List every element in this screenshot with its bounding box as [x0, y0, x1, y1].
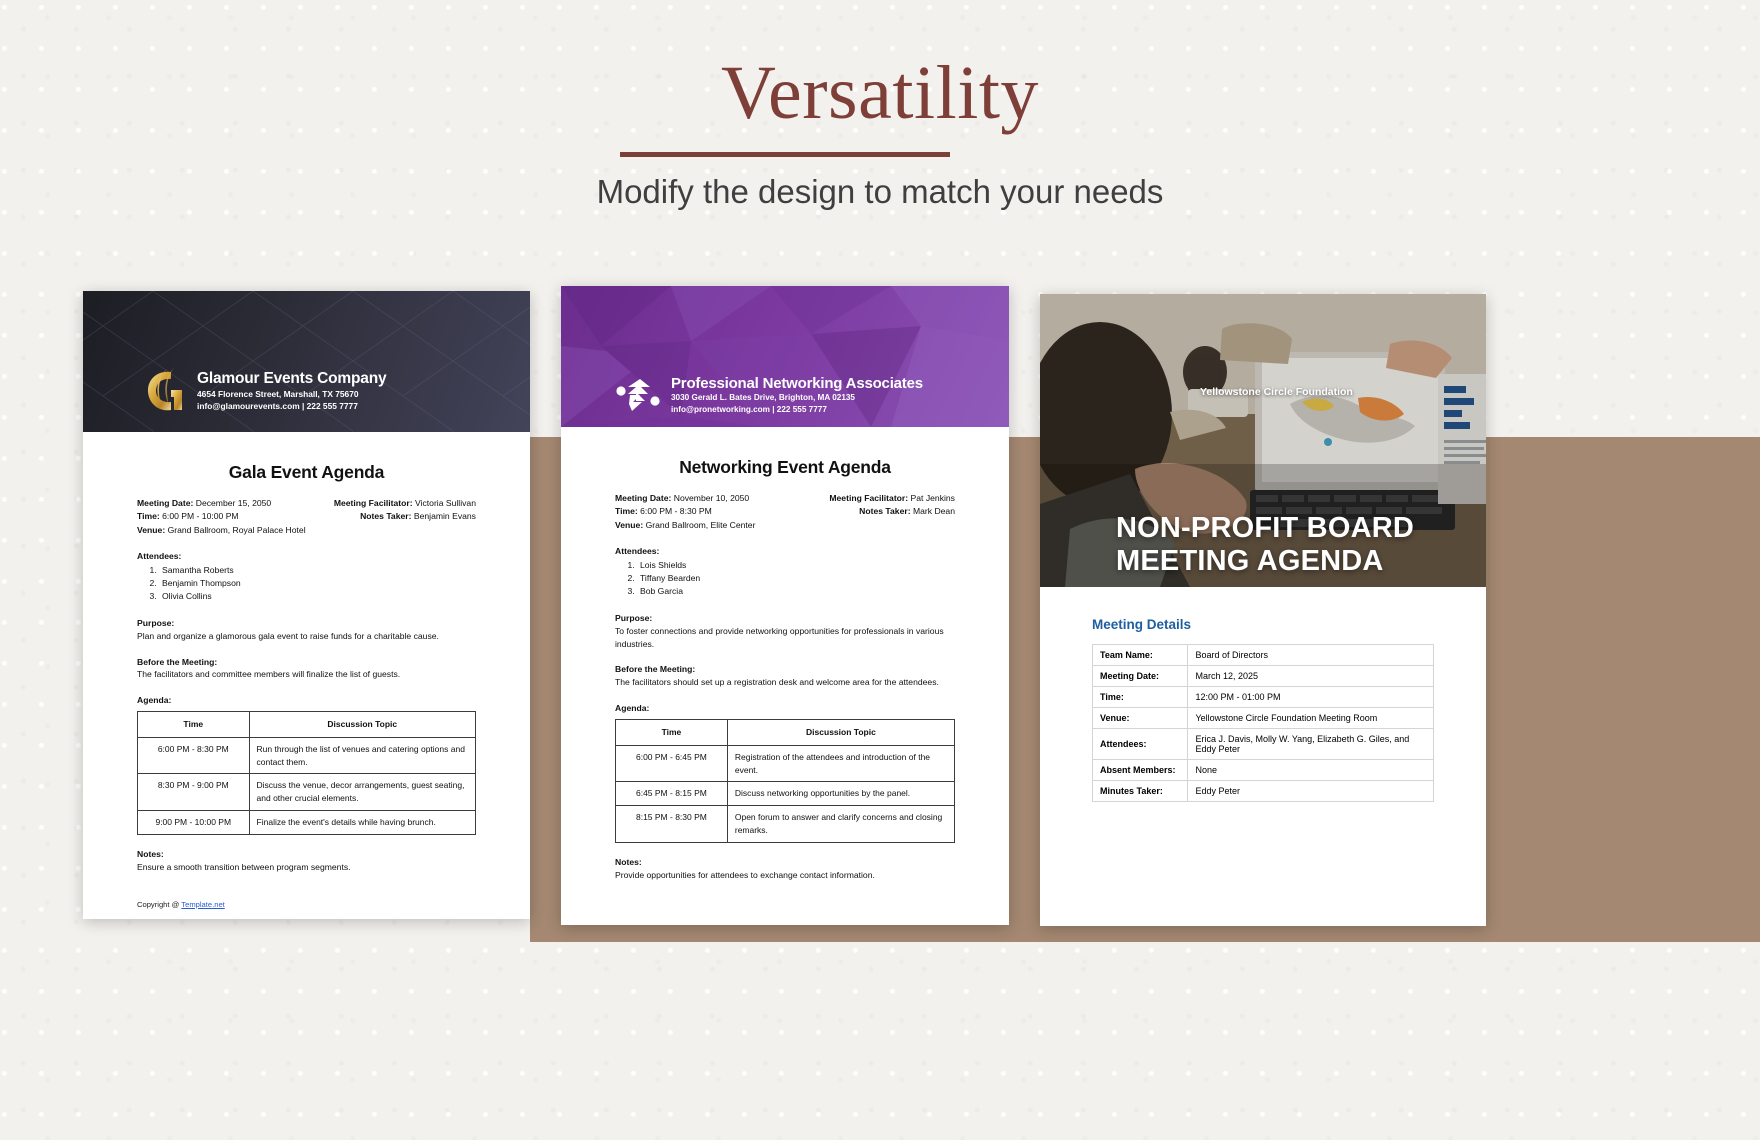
card2-agenda-section: Agenda: Time Discussion Topic 6:00 PM - …	[615, 702, 955, 842]
cell-key: Meeting Date:	[1093, 666, 1188, 687]
card1-facilitator-label: Meeting Facilitator:	[334, 498, 413, 508]
card1-time-label: Time:	[137, 511, 160, 521]
cell-key: Time:	[1093, 687, 1188, 708]
card2-notes-label: Notes:	[615, 856, 955, 869]
card1-date-value: December 15, 2050	[196, 498, 271, 508]
card1-notestaker-label: Notes Taker:	[360, 511, 411, 521]
card2-notes-text: Provide opportunities for attendees to e…	[615, 869, 955, 882]
list-item: Tiffany Bearden	[637, 572, 955, 585]
card2-purpose-text: To foster connections and provide networ…	[615, 625, 955, 651]
cell-topic: Registration of the attendees and introd…	[727, 745, 954, 782]
card2-attendees-label: Attendees:	[615, 545, 955, 558]
list-item: Olivia Collins	[159, 590, 476, 603]
card2-doc-title: Networking Event Agenda	[615, 457, 955, 478]
table-header-row: Time Discussion Topic	[138, 712, 476, 738]
list-item: Bob Garcia	[637, 585, 955, 598]
column-header-topic: Discussion Topic	[727, 720, 954, 746]
cell-value: None	[1188, 760, 1434, 781]
cell-value: Board of Directors	[1188, 645, 1434, 666]
cell-key: Minutes Taker:	[1093, 781, 1188, 802]
page-title: Versatility	[0, 50, 1760, 137]
card1-before-section: Before the Meeting: The facilitators and…	[137, 656, 476, 682]
cell-value: March 12, 2025	[1188, 666, 1434, 687]
card2-agenda-label: Agenda:	[615, 702, 955, 715]
card2-company-address: 3030 Gerald L. Bates Drive, Brighton, MA…	[671, 392, 923, 404]
card2-body: Networking Event Agenda Meeting Date: No…	[561, 427, 1009, 881]
card1-before-text: The facilitators and committee members w…	[137, 668, 476, 681]
cell-topic: Discuss the venue, decor arrangements, g…	[249, 774, 475, 811]
card3-body: Meeting Details Team Name: Board of Dire…	[1040, 587, 1486, 802]
template-net-link[interactable]: Template.net	[181, 900, 224, 909]
table-row: Attendees: Erica J. Davis, Molly W. Yang…	[1093, 729, 1434, 760]
card2-header-banner: Professional Networking Associates 3030 …	[561, 286, 1009, 427]
document-card-networking-event-agenda[interactable]: Professional Networking Associates 3030 …	[561, 286, 1009, 925]
card2-time-label: Time:	[615, 506, 638, 516]
cell-key: Absent Members:	[1093, 760, 1188, 781]
card2-company-name: Professional Networking Associates	[671, 375, 923, 393]
cell-topic: Run through the list of venues and cater…	[249, 737, 475, 774]
cell-time: 8:15 PM - 8:30 PM	[616, 806, 728, 843]
table-row: Team Name: Board of Directors	[1093, 645, 1434, 666]
gold-g-monogram-logo-icon	[141, 364, 187, 418]
card1-facilitator-value: Victoria Sullivan	[415, 498, 476, 508]
card1-purpose-label: Purpose:	[137, 617, 476, 630]
cell-time: 6:00 PM - 8:30 PM	[138, 737, 250, 774]
card1-venue-label: Venue:	[137, 525, 165, 535]
card3-title-line2: MEETING AGENDA	[1116, 545, 1414, 577]
cell-time: 8:30 PM - 9:00 PM	[138, 774, 250, 811]
list-item: Benjamin Thompson	[159, 577, 476, 590]
card3-header-title: NON-PROFIT BOARD MEETING AGENDA	[1116, 512, 1414, 577]
cell-value: Yellowstone Circle Foundation Meeting Ro…	[1188, 708, 1434, 729]
card1-before-label: Before the Meeting:	[137, 656, 476, 669]
card1-attendees-section: Attendees: Samantha Roberts Benjamin Tho…	[137, 550, 476, 604]
card1-agenda-label: Agenda:	[137, 694, 476, 707]
card1-notes-section: Notes: Ensure a smooth transition betwee…	[137, 848, 476, 874]
cell-key: Venue:	[1093, 708, 1188, 729]
cell-time: 9:00 PM - 10:00 PM	[138, 810, 250, 834]
card2-notes-section: Notes: Provide opportunities for attende…	[615, 856, 955, 882]
list-item: Lois Shields	[637, 559, 955, 572]
card2-purpose-section: Purpose: To foster connections and provi…	[615, 612, 955, 651]
card2-before-text: The facilitators should set up a registr…	[615, 676, 955, 689]
table-row: Absent Members: None	[1093, 760, 1434, 781]
card1-purpose-text: Plan and organize a glamorous gala event…	[137, 630, 476, 643]
table-row: 6:00 PM - 8:30 PM Run through the list o…	[138, 737, 476, 774]
table-row: Meeting Date: March 12, 2025	[1093, 666, 1434, 687]
card2-facilitator-label: Meeting Facilitator:	[829, 493, 908, 503]
card1-company-contact: info@glamourevents.com | 222 555 7777	[197, 400, 386, 412]
cell-topic: Open forum to answer and clarify concern…	[727, 806, 954, 843]
table-row: Venue: Yellowstone Circle Foundation Mee…	[1093, 708, 1434, 729]
card2-time-value: 6:00 PM - 8:30 PM	[640, 506, 712, 516]
card1-company-address: 4654 Florence Street, Marshall, TX 75670	[197, 388, 386, 400]
cell-topic: Finalize the event's details while havin…	[249, 810, 475, 834]
card1-date-label: Meeting Date:	[137, 498, 193, 508]
card1-meta-block: Meeting Date: December 15, 2050 Time: 6:…	[137, 497, 476, 537]
cell-time: 6:00 PM - 6:45 PM	[616, 745, 728, 782]
cell-value: Eddy Peter	[1188, 781, 1434, 802]
document-card-nonprofit-board-meeting-agenda[interactable]: Yellowstone Circle Foundation NON-PROFIT…	[1040, 294, 1486, 926]
card3-title-line1: NON-PROFIT BOARD	[1116, 512, 1414, 544]
card1-brand-text: Glamour Events Company 4654 Florence Str…	[197, 370, 386, 412]
card1-purpose-section: Purpose: Plan and organize a glamorous g…	[137, 617, 476, 643]
card1-attendees-label: Attendees:	[137, 550, 476, 563]
card1-copyright: Copyright @ Template.net	[137, 900, 476, 909]
card2-facilitator-value: Pat Jenkins	[911, 493, 955, 503]
card2-purpose-label: Purpose:	[615, 612, 955, 625]
card3-photo-caption: Yellowstone Circle Foundation	[1200, 386, 1353, 398]
card2-attendees-list: Lois Shields Tiffany Bearden Bob Garcia	[637, 559, 955, 599]
card2-meta-block: Meeting Date: November 10, 2050 Time: 6:…	[615, 492, 955, 532]
card3-header-photo: Yellowstone Circle Foundation NON-PROFIT…	[1040, 294, 1486, 587]
cell-time: 6:45 PM - 8:15 PM	[616, 782, 728, 806]
table-row: 8:15 PM - 8:30 PM Open forum to answer a…	[616, 806, 955, 843]
table-row: 9:00 PM - 10:00 PM Finalize the event's …	[138, 810, 476, 834]
document-card-gala-event-agenda[interactable]: Glamour Events Company 4654 Florence Str…	[83, 291, 530, 919]
slide-canvas: Versatility Modify the design to match y…	[0, 0, 1760, 1140]
card1-agenda-section: Agenda: Time Discussion Topic 6:00 PM - …	[137, 694, 476, 834]
title-underline-rule	[620, 152, 950, 157]
table-row: Time: 12:00 PM - 01:00 PM	[1093, 687, 1434, 708]
card2-before-section: Before the Meeting: The facilitators sho…	[615, 663, 955, 689]
card2-venue-label: Venue:	[615, 520, 643, 530]
cell-value: 12:00 PM - 01:00 PM	[1188, 687, 1434, 708]
card2-attendees-section: Attendees: Lois Shields Tiffany Bearden …	[615, 545, 955, 599]
card2-date-value: November 10, 2050	[674, 493, 749, 503]
table-header-row: Time Discussion Topic	[616, 720, 955, 746]
card2-notestaker-value: Mark Dean	[913, 506, 955, 516]
card1-body: Gala Event Agenda Meeting Date: December…	[83, 432, 530, 909]
cell-value: Erica J. Davis, Molly W. Yang, Elizabeth…	[1188, 729, 1434, 760]
networking-people-logo-icon	[616, 375, 660, 415]
card2-company-contact: info@pronetworking.com | 222 555 7777	[671, 404, 923, 416]
card2-venue-value: Grand Ballroom, Elite Center	[646, 520, 756, 530]
card3-section-title: Meeting Details	[1092, 617, 1434, 632]
copyright-prefix: Copyright @	[137, 900, 181, 909]
card1-company-name: Glamour Events Company	[197, 370, 386, 388]
cell-key: Team Name:	[1093, 645, 1188, 666]
table-row: Minutes Taker: Eddy Peter	[1093, 781, 1434, 802]
card1-time-value: 6:00 PM - 10:00 PM	[162, 511, 238, 521]
card1-header-banner: Glamour Events Company 4654 Florence Str…	[83, 291, 530, 432]
column-header-topic: Discussion Topic	[249, 712, 475, 738]
column-header-time: Time	[138, 712, 250, 738]
card3-meeting-details-table: Team Name: Board of Directors Meeting Da…	[1092, 644, 1434, 802]
column-header-time: Time	[616, 720, 728, 746]
card2-brand-text: Professional Networking Associates 3030 …	[671, 375, 923, 416]
card2-date-label: Meeting Date:	[615, 493, 671, 503]
card2-brand: Professional Networking Associates 3030 …	[616, 375, 923, 416]
table-row: 8:30 PM - 9:00 PM Discuss the venue, dec…	[138, 774, 476, 811]
cell-topic: Discuss networking opportunities by the …	[727, 782, 954, 806]
card1-notestaker-value: Benjamin Evans	[414, 511, 476, 521]
card1-notes-label: Notes:	[137, 848, 476, 861]
table-row: 6:45 PM - 8:15 PM Discuss networking opp…	[616, 782, 955, 806]
cell-key: Attendees:	[1093, 729, 1188, 760]
card1-venue-value: Grand Ballroom, Royal Palace Hotel	[168, 525, 306, 535]
card2-notestaker-label: Notes Taker:	[859, 506, 910, 516]
card1-attendees-list: Samantha Roberts Benjamin Thompson Olivi…	[159, 564, 476, 604]
card1-brand: Glamour Events Company 4654 Florence Str…	[141, 364, 386, 418]
card2-before-label: Before the Meeting:	[615, 663, 955, 676]
table-row: 6:00 PM - 6:45 PM Registration of the at…	[616, 745, 955, 782]
card2-agenda-table: Time Discussion Topic 6:00 PM - 6:45 PM …	[615, 719, 955, 843]
page-subtitle: Modify the design to match your needs	[0, 173, 1760, 211]
card1-doc-title: Gala Event Agenda	[137, 462, 476, 483]
list-item: Samantha Roberts	[159, 564, 476, 577]
card1-agenda-table: Time Discussion Topic 6:00 PM - 8:30 PM …	[137, 711, 476, 835]
card1-notes-text: Ensure a smooth transition between progr…	[137, 861, 476, 874]
